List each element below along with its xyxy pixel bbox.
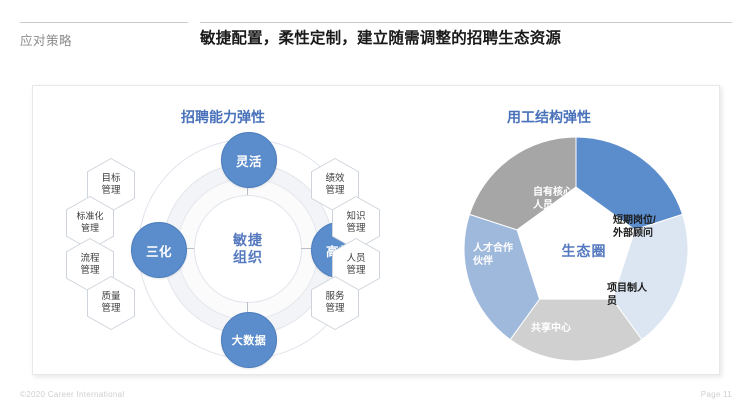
donut-segment[interactable] [469, 137, 576, 230]
donut-segment-label: 短期岗位/ 外部顾问 [613, 214, 656, 240]
ring-node-bigdata[interactable]: 大数据 [221, 312, 277, 368]
ring-node-flexible[interactable]: 灵活 [221, 132, 277, 188]
donut-segment-label: 共享中心 [531, 322, 571, 335]
content-card: 招聘能力弹性 用工结构弹性 敏捷 组织 灵活 高效 大数据 三化 目标 管理 标… [32, 85, 720, 375]
donut-segment-label: 项目制人 员 [607, 282, 647, 308]
header-rule-right [200, 22, 732, 23]
header-rule-left [20, 22, 188, 23]
left-panel-title: 招聘能力弹性 [181, 107, 265, 127]
ring-node-sanhua[interactable]: 三化 [131, 222, 187, 278]
ecosystem-donut-chart: 生态圈 自有核心 人员短期岗位/ 外部顾问项目制人 员共享中心人才合作 伙伴 [461, 134, 691, 364]
donut-segment-label: 自有核心 人员 [533, 186, 573, 212]
footer-copyright: ©2020 Career International [20, 390, 124, 399]
footer-page-number: Page 11 [701, 390, 732, 399]
page-title: 敏捷配置，柔性定制，建立随需调整的招聘生态资源 [200, 26, 561, 48]
header-kicker: 应对策略 [20, 30, 72, 49]
ring-center-label: 敏捷 组织 [194, 195, 302, 303]
donut-segment-label: 人才合作 伙伴 [473, 242, 513, 268]
right-panel-title: 用工结构弹性 [507, 107, 591, 127]
